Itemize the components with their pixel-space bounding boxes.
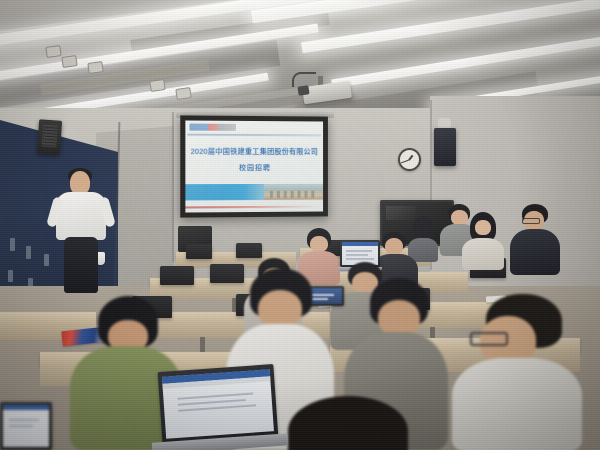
attendee-white-jacket xyxy=(462,212,504,268)
presenter xyxy=(56,171,110,295)
downlight-icon xyxy=(61,55,77,68)
attendee-glasses-white-shirt xyxy=(452,294,582,450)
classroom-photo: 2020届中国铁建重工集团股份有限公司 校园招聘 xyxy=(0,0,600,450)
downlight-icon xyxy=(175,87,191,100)
presenter-shirt xyxy=(56,192,106,240)
wall-clock xyxy=(398,148,421,171)
glasses-icon xyxy=(470,332,508,346)
slide-subtitle: 校园招聘 xyxy=(185,163,323,173)
glasses-icon xyxy=(522,218,540,224)
projection-screen: 2020届中国铁建重工集团股份有限公司 校园招聘 xyxy=(180,115,328,217)
attendee-navy-shirt xyxy=(510,204,560,274)
slide-photo-strip xyxy=(264,184,323,200)
chair xyxy=(236,243,262,258)
downlight-icon xyxy=(87,61,103,74)
chair xyxy=(186,244,212,259)
attendee-foreground-head xyxy=(288,396,408,450)
wall-speaker-left xyxy=(37,119,62,155)
projected-slide: 2020届中国铁建重工集团股份有限公司 校园招聘 xyxy=(185,120,323,212)
chair xyxy=(160,266,194,285)
slide-logo-icon xyxy=(189,124,236,131)
downlight-icon xyxy=(149,79,165,92)
presenter-trousers xyxy=(64,237,98,293)
wall-speaker-right xyxy=(434,128,456,166)
projector-lens-icon xyxy=(297,85,309,95)
downlight-icon xyxy=(45,45,61,58)
slide-title: 2020届中国铁建重工集团股份有限公司 xyxy=(185,147,323,157)
